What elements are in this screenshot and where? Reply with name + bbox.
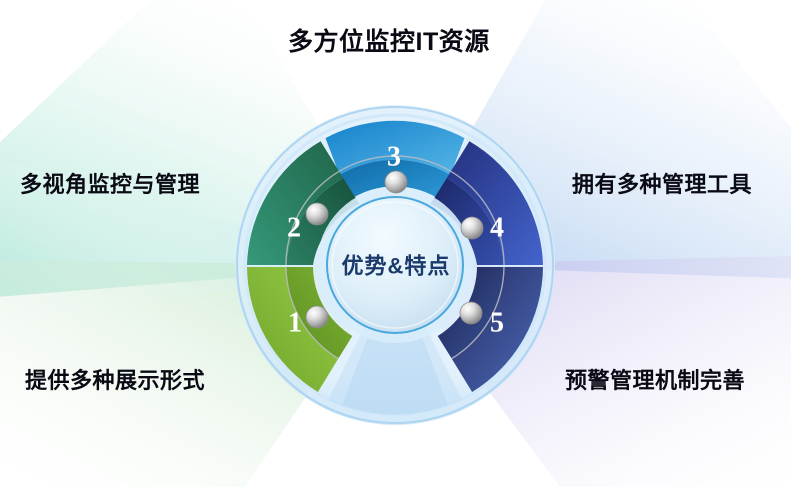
- background-rays: [0, 0, 791, 487]
- label-left-bottom: 提供多种展示形式: [25, 363, 205, 395]
- diagram-canvas: 优势&特点 1 2 3 4 5 多方位监控IT资源 多视角监控与管理 提供多种展…: [0, 0, 791, 487]
- label-top: 多方位监控IT资源: [288, 22, 490, 58]
- label-right-top: 拥有多种管理工具: [572, 167, 752, 199]
- label-right-bottom: 预警管理机制完善: [565, 363, 745, 395]
- label-left-top: 多视角监控与管理: [20, 167, 200, 199]
